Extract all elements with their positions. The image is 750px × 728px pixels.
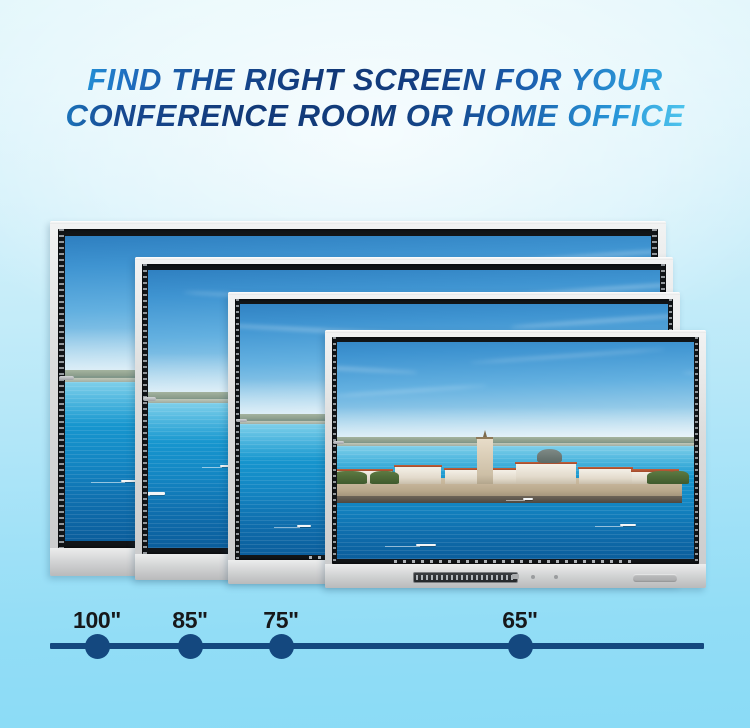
display-screen[interactable] — [337, 342, 694, 559]
touch-sensor-strip-icon — [59, 229, 64, 548]
screen-wallpaper — [337, 342, 694, 559]
power-button[interactable] — [531, 575, 535, 579]
wallpaper-boat-wake — [506, 500, 525, 501]
ports-icon — [416, 575, 515, 580]
wallpaper-building — [395, 466, 441, 483]
wallpaper-church-dome — [537, 449, 562, 463]
slider-label-75in: 75" — [263, 607, 299, 634]
touch-sensor-strip-icon — [333, 337, 336, 564]
display-inner-frame — [332, 337, 699, 564]
camera-icon — [143, 397, 156, 401]
wallpaper-boat — [148, 492, 165, 494]
wallpaper-building — [579, 468, 632, 483]
touch-sensor-strip-icon — [236, 299, 239, 560]
slider-track[interactable] — [50, 643, 704, 649]
slider-label-65in: 65" — [502, 607, 538, 634]
size-slider[interactable]: 100"85"75"65" — [0, 592, 750, 682]
wallpaper-boat-wake — [385, 546, 420, 547]
wallpaper-boat-wake — [274, 527, 300, 528]
slider-dot-75in[interactable] — [269, 634, 294, 659]
wallpaper-roof — [578, 467, 633, 470]
product-size-comparison-poster: FIND THE RIGHT SCREEN FOR YOUR CONFERENC… — [0, 0, 750, 728]
wallpaper-trees — [337, 471, 367, 483]
slider-label-85in: 85" — [172, 607, 208, 634]
ir-receiver-icon — [554, 575, 558, 579]
slider-dot-100in[interactable] — [85, 634, 110, 659]
slider-dot-85in[interactable] — [178, 634, 203, 659]
wallpaper-trees — [370, 471, 398, 483]
bottom-sensor-row-icon — [394, 560, 638, 563]
wallpaper-island — [337, 455, 682, 503]
wallpaper-boat-wake — [202, 467, 222, 468]
display-bottom-bezel — [325, 564, 706, 588]
slider-dot-65in[interactable] — [508, 634, 533, 659]
slider-label-100in: 100" — [73, 607, 121, 634]
io-port-panel[interactable] — [413, 572, 518, 583]
touch-sensor-strip-right-icon — [695, 337, 698, 564]
camera-icon — [236, 419, 247, 422]
display-stack — [0, 0, 750, 600]
wallpaper-tower-spire — [483, 430, 487, 437]
wallpaper-trees — [668, 471, 689, 483]
camera-icon — [333, 441, 344, 444]
wallpaper-boat-wake — [148, 495, 150, 496]
speaker-grille-icon — [633, 574, 677, 582]
display-65-inch[interactable] — [325, 330, 706, 588]
touch-sensor-strip-icon — [143, 264, 147, 554]
wallpaper-boat-wake — [595, 526, 624, 527]
camera-icon — [59, 376, 74, 380]
wallpaper-roof — [394, 465, 442, 468]
wallpaper-boat-wake — [91, 482, 125, 483]
brand-logo — [512, 574, 519, 579]
wallpaper-building — [516, 463, 576, 483]
wallpaper-bell-tower — [477, 438, 493, 483]
